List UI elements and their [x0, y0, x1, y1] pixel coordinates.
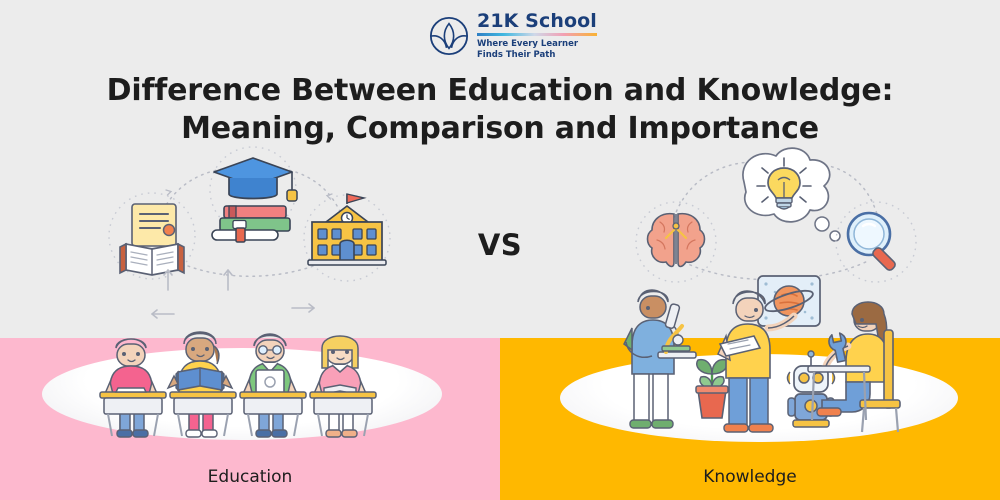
brand-name: 21K School — [477, 12, 597, 31]
student-2 — [168, 332, 232, 437]
desk-1 — [100, 388, 166, 436]
brand-logo[interactable]: 21K School Where Every Learner Finds The… — [428, 12, 597, 60]
student-4 — [313, 336, 367, 437]
knowledge-people-scene — [612, 270, 922, 442]
potted-plant-shape — [696, 360, 728, 418]
education-icon-cluster — [96, 148, 396, 288]
student-3 — [243, 334, 297, 437]
brand-tagline-line-2: Finds Their Path — [477, 50, 555, 60]
education-students-scene — [96, 284, 396, 444]
brand-tagline-line-1: Where Every Learner — [477, 39, 578, 49]
brand-tagline: Where Every Learner Finds Their Path — [477, 39, 597, 60]
brand-gradient-rule — [477, 33, 597, 36]
infographic-canvas: 21K School Where Every Learner Finds The… — [0, 0, 1000, 500]
magnifier-shape — [848, 213, 897, 272]
page-title: Difference Between Education and Knowled… — [0, 72, 1000, 149]
thought-cloud-shape — [743, 148, 840, 241]
knowledge-caption: Knowledge — [500, 467, 1000, 487]
page-title-line-1: Difference Between Education and Knowled… — [0, 72, 1000, 110]
brain-shape — [648, 214, 705, 267]
knowledge-icon-cluster — [626, 142, 926, 288]
education-caption: Education — [0, 467, 500, 487]
lotus-circle-emblem-icon — [428, 15, 470, 57]
